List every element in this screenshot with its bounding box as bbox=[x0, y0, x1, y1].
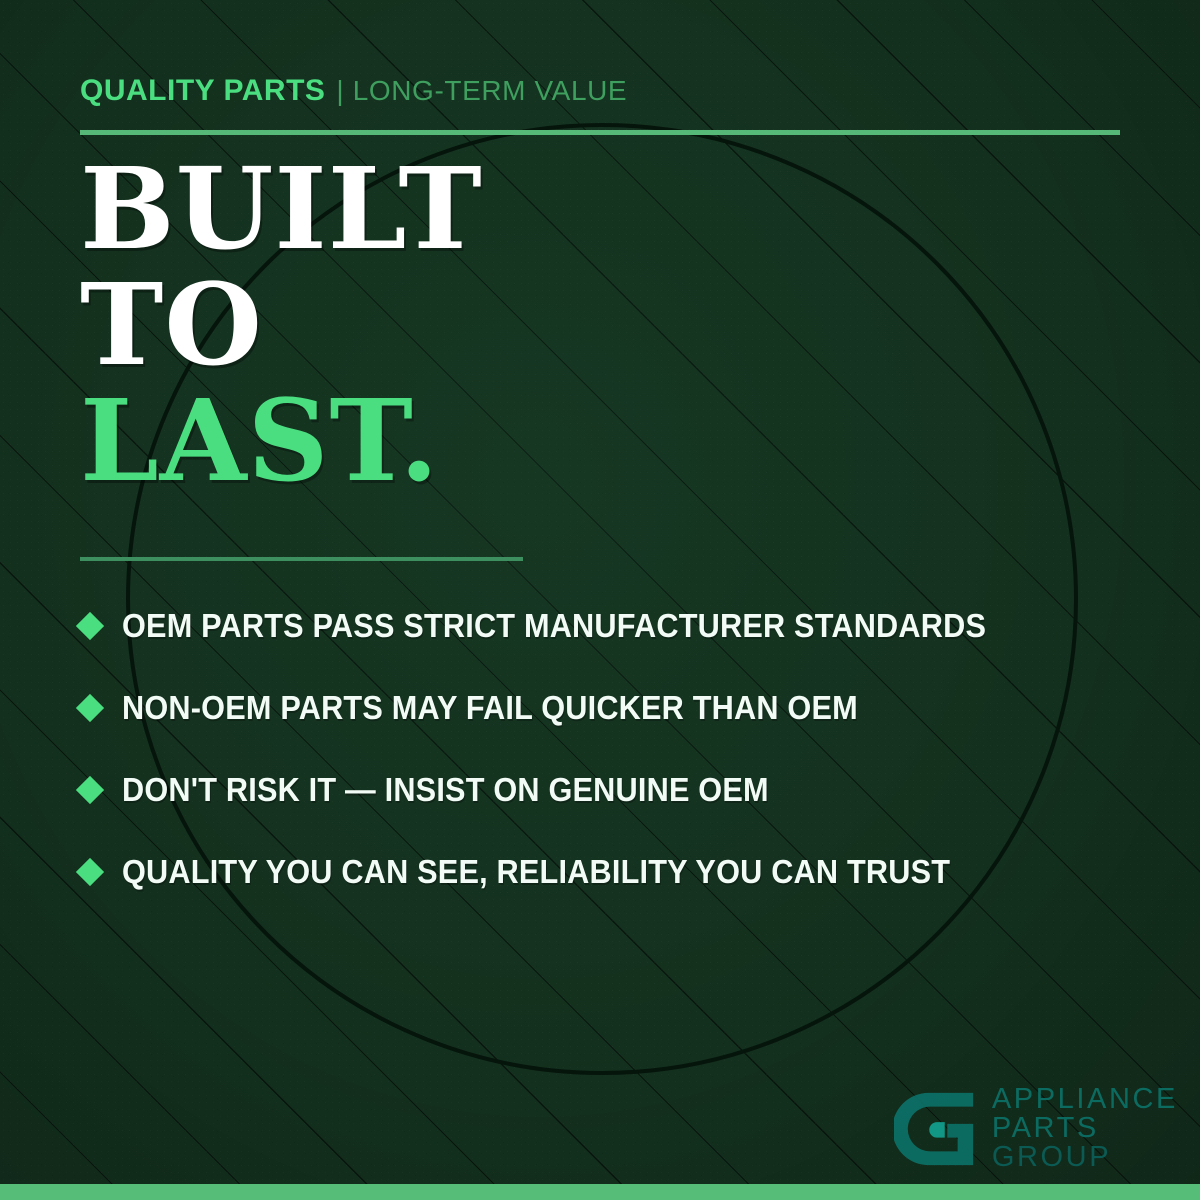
list-item-label: NON-OEM PARTS MAY FAIL QUICKER THAN OEM bbox=[122, 689, 858, 727]
headline-line-2: TO bbox=[80, 271, 700, 381]
list-item: NON-OEM PARTS MAY FAIL QUICKER THAN OEM bbox=[80, 667, 1150, 749]
brand-logo-line-2: PARTS bbox=[992, 1114, 1178, 1143]
list-item-label: OEM PARTS PASS STRICT MANUFACTURER STAND… bbox=[122, 607, 986, 645]
diamond-icon bbox=[76, 776, 104, 804]
headline-line-1: BUILT bbox=[80, 155, 700, 265]
diamond-icon bbox=[76, 694, 104, 722]
diamond-icon bbox=[76, 858, 104, 886]
eyebrow-strong-text: QUALITY PARTS bbox=[80, 74, 325, 108]
list-item-label: DON'T RISK IT — INSIST ON GENUINE OEM bbox=[122, 771, 769, 809]
headline-divider-rule bbox=[80, 557, 523, 561]
brand-logo-line-1: APPLIANCE bbox=[992, 1085, 1178, 1114]
diamond-icon bbox=[76, 612, 104, 640]
eyebrow-light-text: LONG-TERM VALUE bbox=[353, 75, 628, 107]
bottom-accent-bar bbox=[0, 1184, 1200, 1200]
brand-logo-line-3: GROUP bbox=[992, 1143, 1178, 1172]
header-divider-rule bbox=[80, 130, 1120, 135]
list-item-label: QUALITY YOU CAN SEE, RELIABILITY YOU CAN… bbox=[122, 853, 950, 891]
benefits-list: OEM PARTS PASS STRICT MANUFACTURER STAND… bbox=[80, 585, 1150, 913]
list-item: DON'T RISK IT — INSIST ON GENUINE OEM bbox=[80, 749, 1150, 831]
brand-logo: APPLIANCE PARTS GROUP bbox=[894, 1085, 1178, 1172]
eyebrow-separator: | bbox=[336, 75, 343, 107]
list-item: QUALITY YOU CAN SEE, RELIABILITY YOU CAN… bbox=[80, 831, 1150, 913]
list-item: OEM PARTS PASS STRICT MANUFACTURER STAND… bbox=[80, 585, 1150, 667]
g-monogram-icon bbox=[894, 1086, 980, 1172]
headline-line-3: LAST. bbox=[80, 387, 700, 497]
header-eyebrow: QUALITY PARTS | LONG-TERM VALUE bbox=[80, 74, 627, 108]
headline-block: BUILT TO LAST. bbox=[80, 155, 700, 496]
poster-canvas: QUALITY PARTS | LONG-TERM VALUE BUILT TO… bbox=[0, 0, 1200, 1200]
brand-logo-wordmark: APPLIANCE PARTS GROUP bbox=[992, 1085, 1178, 1172]
